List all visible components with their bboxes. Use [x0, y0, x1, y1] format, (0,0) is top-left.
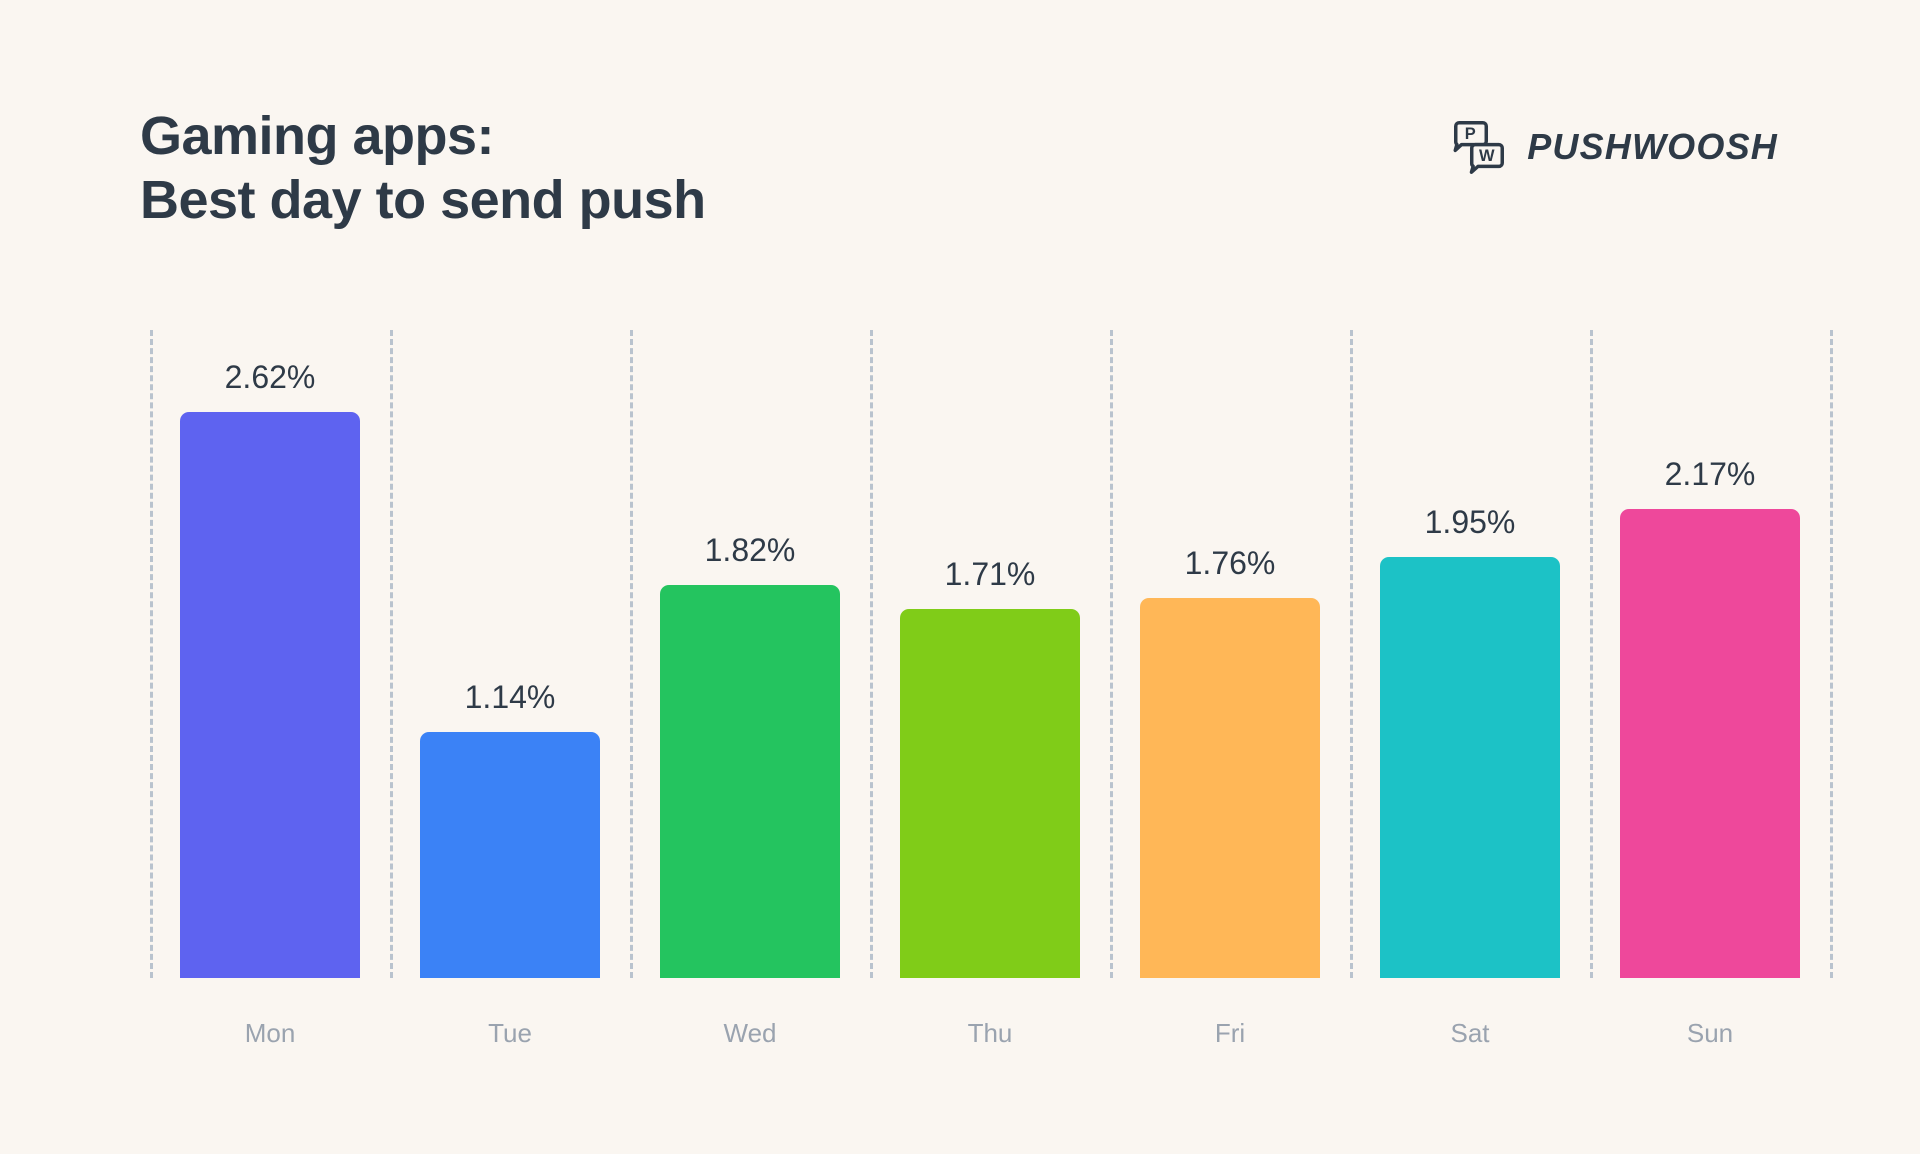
bar-tue[interactable]	[420, 732, 600, 978]
bar-slot: 2.62%	[150, 330, 390, 978]
bar-chart: Open rate percentage 2.62%1.14%1.82%1.71…	[100, 330, 1830, 1050]
x-label-tue: Tue	[488, 1018, 532, 1049]
x-label-fri: Fri	[1215, 1018, 1245, 1049]
plot-area: 2.62%1.14%1.82%1.71%1.76%1.95%2.17%	[150, 330, 1830, 986]
bar-value-sat: 1.95%	[1425, 504, 1516, 541]
bar-slot: 1.82%	[630, 330, 870, 978]
bar-series: 2.62%1.14%1.82%1.71%1.76%1.95%2.17%	[150, 330, 1830, 978]
bar-sun[interactable]	[1620, 509, 1800, 978]
x-label-wed: Wed	[724, 1018, 777, 1049]
bar-value-sun: 2.17%	[1665, 456, 1756, 493]
bar-slot: 1.14%	[390, 330, 630, 978]
pushwoosh-logo: P W PUSHWOOSH	[1448, 116, 1778, 178]
pushwoosh-logo-text: PUSHWOOSH	[1527, 126, 1778, 168]
x-label-mon: Mon	[245, 1018, 296, 1049]
bar-thu[interactable]	[900, 609, 1080, 978]
bar-value-tue: 1.14%	[465, 679, 556, 716]
bar-wed[interactable]	[660, 585, 840, 978]
bar-fri[interactable]	[1140, 598, 1320, 978]
title-line-2: Best day to send push	[140, 169, 706, 233]
bar-sat[interactable]	[1380, 557, 1560, 978]
x-axis-labels: MonTueWedThuFriSatSun	[150, 1018, 1830, 1064]
bar-value-fri: 1.76%	[1185, 545, 1276, 582]
bar-slot: 1.71%	[870, 330, 1110, 978]
bar-slot: 1.95%	[1350, 330, 1590, 978]
x-label-sun: Sun	[1687, 1018, 1733, 1049]
bar-value-mon: 2.62%	[225, 359, 316, 396]
bar-value-thu: 1.71%	[945, 556, 1036, 593]
bar-slot: 2.17%	[1590, 330, 1830, 978]
x-label-sat: Sat	[1450, 1018, 1489, 1049]
svg-text:W: W	[1479, 147, 1495, 165]
pushwoosh-logo-icon: P W	[1448, 116, 1510, 178]
page-title: Gaming apps: Best day to send push	[140, 105, 706, 232]
chart-page: Gaming apps: Best day to send push P W P…	[0, 0, 1920, 1154]
bar-slot: 1.76%	[1110, 330, 1350, 978]
title-line-1: Gaming apps:	[140, 105, 706, 169]
gridline	[1830, 330, 1833, 978]
svg-text:P: P	[1465, 125, 1476, 143]
bar-mon[interactable]	[180, 412, 360, 978]
x-label-thu: Thu	[968, 1018, 1013, 1049]
chart-header: Gaming apps: Best day to send push P W P…	[0, 0, 1920, 290]
bar-value-wed: 1.82%	[705, 532, 796, 569]
